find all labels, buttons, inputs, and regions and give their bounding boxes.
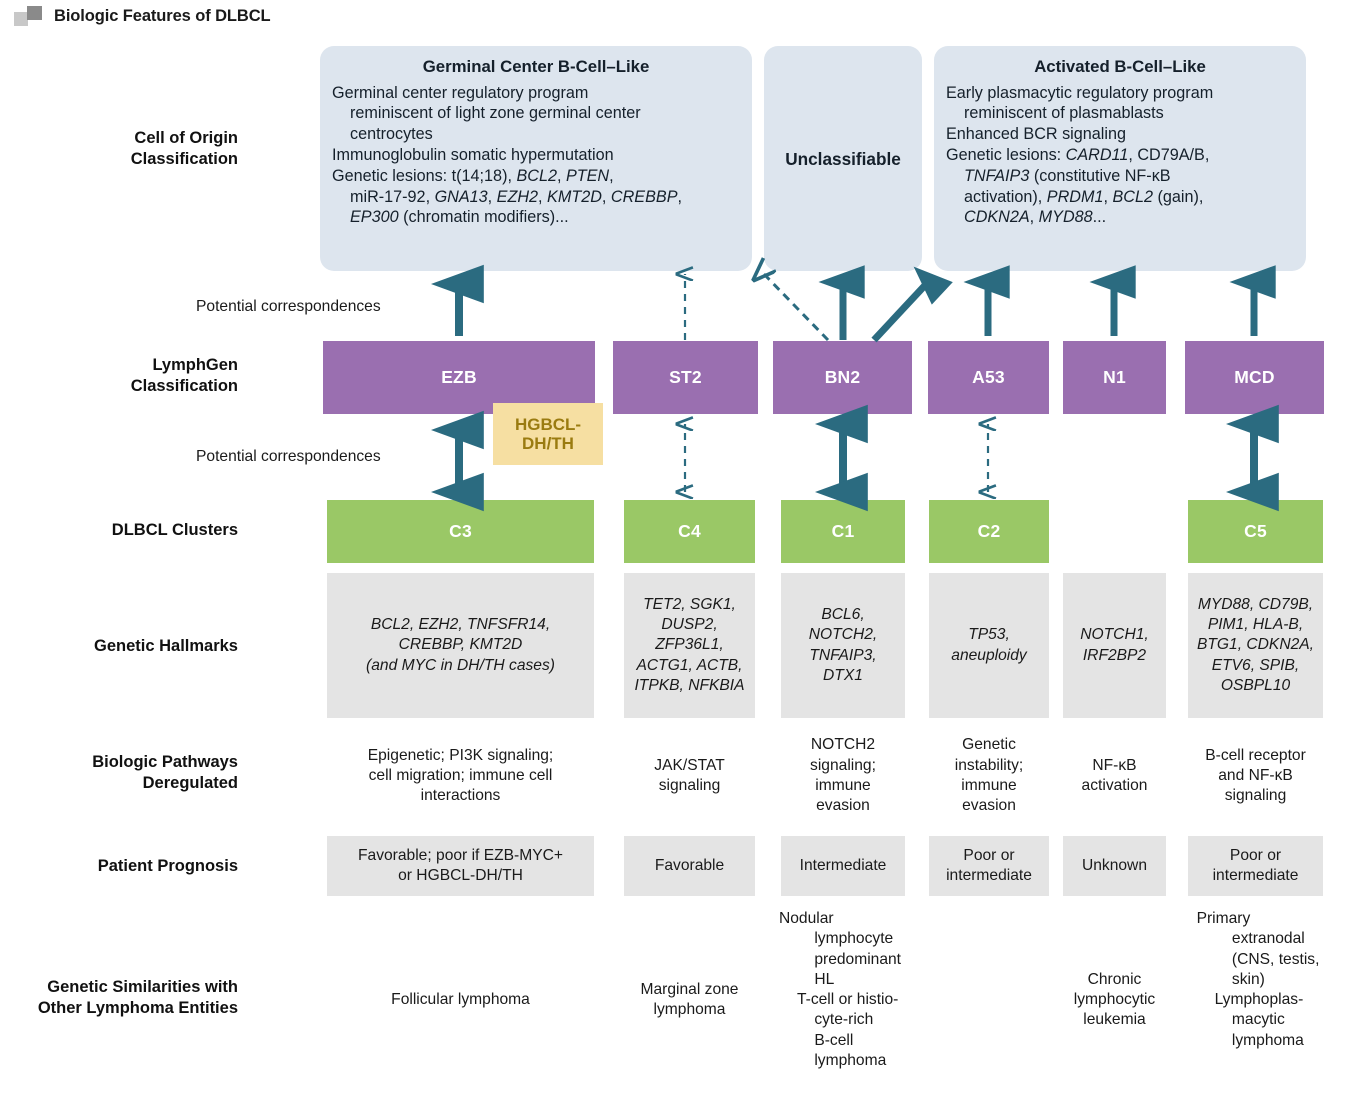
prognosis-cell-c3: Favorable; poor if EZB-MYC+ or HGBCL-DH/… bbox=[327, 836, 594, 896]
arrow-bn2-to-gcb bbox=[762, 272, 828, 340]
cluster-label-c4: C4 bbox=[678, 521, 701, 542]
lymphgen-box-n1[interactable]: N1 bbox=[1063, 341, 1166, 414]
coo-abc-title: Activated B-Cell–Like bbox=[946, 56, 1294, 78]
figure-title-bar: Biologic Features of DLBCL bbox=[0, 0, 1364, 32]
row-label-hallmarks: Genetic Hallmarks bbox=[8, 636, 238, 657]
hgbcl-line1: HGBCL- bbox=[515, 415, 581, 434]
row-label-clusters: DLBCL Clusters bbox=[8, 520, 238, 541]
similarities-cell-c2 bbox=[929, 905, 1049, 1095]
row-label-prognosis: Patient Prognosis bbox=[8, 856, 238, 877]
page-title: Biologic Features of DLBCL bbox=[54, 7, 271, 26]
pathways-cell-c5: B-cell receptor and NF-κB signaling bbox=[1188, 730, 1323, 822]
prognosis-cell-c5: Poor or intermediate bbox=[1188, 836, 1323, 896]
lymphgen-box-a53[interactable]: A53 bbox=[928, 341, 1049, 414]
prognosis-cell-c4: Favorable bbox=[624, 836, 755, 896]
cluster-box-c1[interactable]: C1 bbox=[781, 500, 905, 563]
potential-correspondences-upper: Potential correspondences bbox=[196, 298, 381, 316]
cluster-box-c4[interactable]: C4 bbox=[624, 500, 755, 563]
two-squares-icon bbox=[14, 6, 44, 26]
hallmarks-cell-n1: NOTCH1, IRF2BP2 bbox=[1063, 573, 1166, 718]
lymphgen-label-ezb: EZB bbox=[441, 367, 477, 388]
row-label-cell-of-origin: Cell of Origin Classification bbox=[8, 128, 238, 170]
lymphgen-label-bn2: BN2 bbox=[825, 367, 861, 388]
lymphgen-label-a53: A53 bbox=[972, 367, 1005, 388]
lymphgen-label-mcd: MCD bbox=[1234, 367, 1274, 388]
lymphgen-box-bn2[interactable]: BN2 bbox=[773, 341, 912, 414]
coo-gcb-body: Germinal center regulatory program remin… bbox=[332, 83, 740, 229]
hgbcl-dh-th-tag[interactable]: HGBCL- DH/TH bbox=[493, 403, 603, 465]
cluster-box-c5[interactable]: C5 bbox=[1188, 500, 1323, 563]
coo-unclassifiable-title: Unclassifiable bbox=[785, 148, 901, 170]
similarities-cell-c4: Marginal zone lymphoma bbox=[624, 905, 755, 1095]
lymphgen-label-st2: ST2 bbox=[669, 367, 702, 388]
pathways-cell-c2: Genetic instability; immune evasion bbox=[929, 730, 1049, 822]
potential-correspondences-lower: Potential correspondences bbox=[196, 448, 381, 466]
row-label-pathways: Biologic Pathways Deregulated bbox=[8, 752, 238, 794]
pathways-cell-c3: Epigenetic; PI3K signaling; cell migrati… bbox=[327, 730, 594, 822]
hallmarks-cell-c5: MYD88, CD79B, PIM1, HLA-B, BTG1, CDKN2A,… bbox=[1188, 573, 1323, 718]
prognosis-cell-n1: Unknown bbox=[1063, 836, 1166, 896]
cluster-box-c3[interactable]: C3 bbox=[327, 500, 594, 563]
row-label-similarities: Genetic Similarities with Other Lymphoma… bbox=[8, 977, 238, 1019]
similarities-cell-c3: Follicular lymphoma bbox=[327, 905, 594, 1095]
coo-panel-unclassifiable: Unclassifiable bbox=[764, 46, 922, 271]
pathways-cell-c4: JAK/STAT signaling bbox=[624, 730, 755, 822]
lymphgen-box-mcd[interactable]: MCD bbox=[1185, 341, 1324, 414]
lymphgen-box-st2[interactable]: ST2 bbox=[613, 341, 758, 414]
hgbcl-line2: DH/TH bbox=[522, 434, 574, 453]
hallmarks-cell-c3: BCL2, EZH2, TNFSFR14, CREBBP, KMT2D (and… bbox=[327, 573, 594, 718]
prognosis-cell-c1: Intermediate bbox=[781, 836, 905, 896]
hallmarks-cell-c4: TET2, SGK1, DUSP2, ZFP36L1, ACTG1, ACTB,… bbox=[624, 573, 755, 718]
similarities-cell-c1: Nodular lymphocyte predominant HL T-cell… bbox=[770, 905, 910, 1095]
cluster-label-c1: C1 bbox=[832, 521, 855, 542]
similarities-cell-c5: Primary extranodal (CNS, testis, skin) L… bbox=[1188, 905, 1328, 1095]
row-label-lymphgen: LymphGen Classification bbox=[8, 355, 238, 397]
cluster-label-c2: C2 bbox=[978, 521, 1001, 542]
pathways-cell-c1: NOTCH2 signaling; immune evasion bbox=[781, 730, 905, 822]
lymphgen-label-n1: N1 bbox=[1103, 367, 1126, 388]
similarities-cell-n1: Chronic lymphocytic leukemia bbox=[1063, 905, 1166, 1095]
pathways-cell-n1: NF-κB activation bbox=[1063, 730, 1166, 822]
cluster-label-c3: C3 bbox=[449, 521, 472, 542]
hallmarks-cell-c1: BCL6, NOTCH2, TNFAIP3, DTX1 bbox=[781, 573, 905, 718]
coo-abc-body: Early plasmacytic regulatory program rem… bbox=[946, 83, 1294, 229]
coo-gcb-title: Germinal Center B-Cell–Like bbox=[332, 56, 740, 78]
coo-panel-abc: Activated B-Cell–Like Early plasmacytic … bbox=[934, 46, 1306, 271]
prognosis-cell-c2: Poor or intermediate bbox=[929, 836, 1049, 896]
cluster-label-c5: C5 bbox=[1244, 521, 1267, 542]
cluster-box-c2[interactable]: C2 bbox=[929, 500, 1049, 563]
hallmarks-cell-c2: TP53, aneuploidy bbox=[929, 573, 1049, 718]
coo-panel-gcb: Germinal Center B-Cell–Like Germinal cen… bbox=[320, 46, 752, 271]
arrow-bn2-to-abc bbox=[874, 281, 929, 340]
